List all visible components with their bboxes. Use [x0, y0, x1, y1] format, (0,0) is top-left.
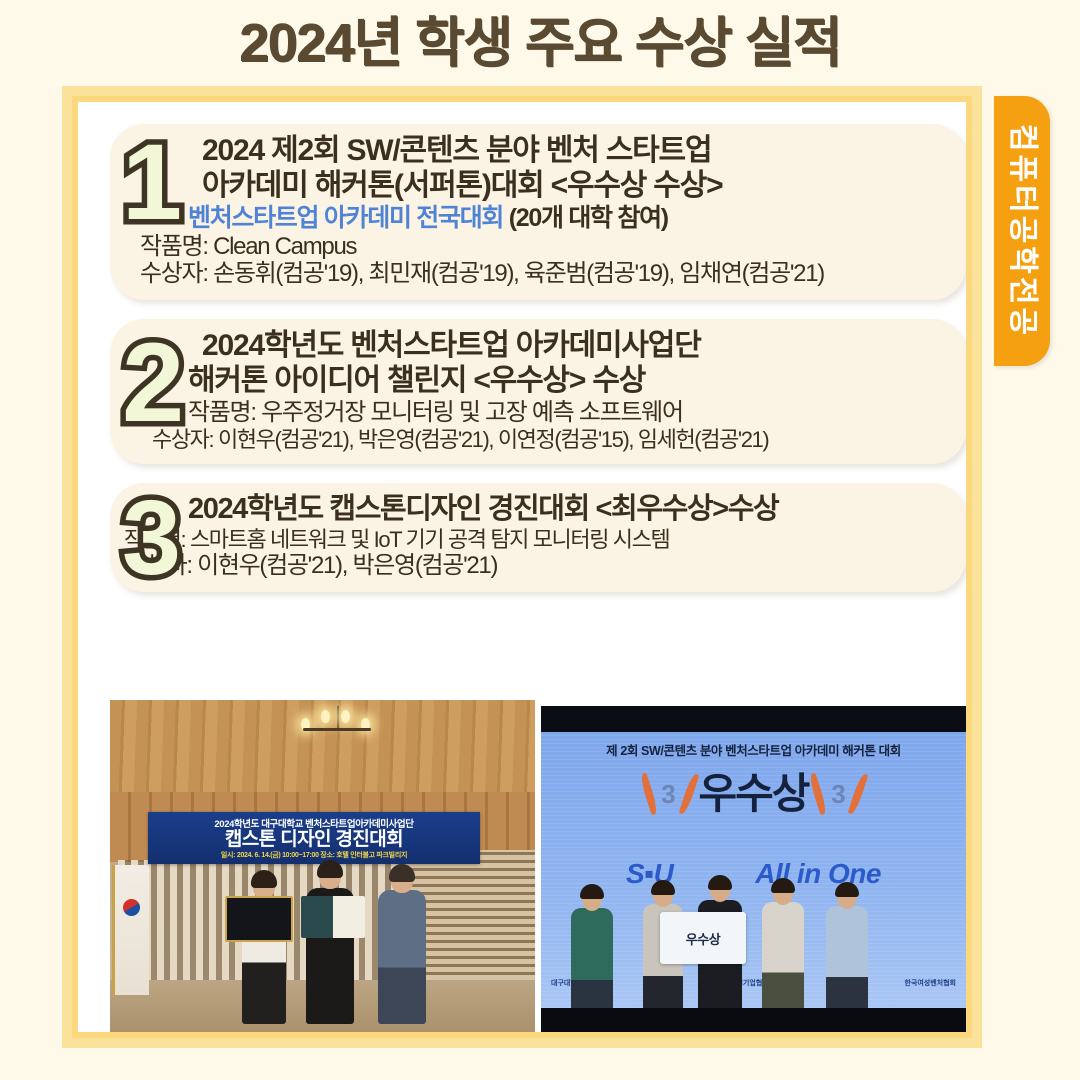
hackathon-award-stage-photo: 제 2회 SW/콘텐츠 분야 벤처스타트업 아카데미 해커톤 대회 3 우수상 …	[541, 706, 966, 1032]
sponsor-logo-right: 한국여성벤처협회	[904, 978, 956, 988]
award-2-winners: 수상자: 이현우(컴공'21), 박은영(컴공'21), 이연정(컴공'15),…	[152, 427, 950, 453]
content-panel: 1 2024 제2회 SW/콘텐츠 분야 벤처 스타트업 아카데미 해커톤(서퍼…	[78, 102, 966, 1032]
photo2-slogan: S▪U All in One	[541, 858, 966, 890]
page-title: 2024년 학생 주요 수상 실적	[239, 16, 841, 70]
photo1-banner-line3: 일시: 2024. 6. 14.(금) 10:00~17:00 장소: 호텔 인…	[221, 850, 407, 860]
award-1-winners: 수상자: 손동휘(컴공'19), 최민재(컴공'19), 육준범(컴공'19),…	[140, 260, 950, 288]
award-1-subtitle-highlight: 벤처스타트업 아카데미 전국대회	[188, 204, 503, 232]
photo2-award-text: 우수상	[699, 773, 809, 815]
photo1-banner-line1: 2024학년도 대구대학교 벤처스타트업아카데미사업단	[214, 816, 413, 830]
award-number-2: 2	[122, 327, 184, 439]
photo1-banner-line2: 캡스톤 디자인 경진대회	[225, 830, 403, 851]
award-card-2: 2 2024학년도 벤처스타트업 아카데미사업단 해커톤 아이디어 챌린지 <우…	[110, 319, 966, 464]
chandelier-icon	[297, 706, 377, 754]
photo1-certificate	[301, 896, 365, 938]
photo2-award-plaque: 우수상	[660, 912, 746, 964]
department-side-tab-label: 컴퓨터공학전공	[1007, 124, 1037, 338]
award-card-1: 1 2024 제2회 SW/콘텐츠 분야 벤처 스타트업 아카데미 해커톤(서퍼…	[110, 124, 966, 300]
award-1-heading-line2: 아카데미 해커톤(서퍼톤)대회 <우수상 수상>	[202, 169, 950, 204]
photo1-award-plaque	[225, 896, 293, 942]
award-3-heading-line1: 2024학년도 캡스톤디자인 경진대회 <최우수상>수상	[188, 493, 950, 527]
laurel-wreath-icon-right: 3	[812, 769, 864, 819]
award-1-subtitle: 벤처스타트업 아카데미 전국대회 (20개 대학 참여)	[188, 204, 950, 233]
award-2-work-title: 작품명: 우주정거장 모니터링 및 고장 예측 소프트웨어	[188, 399, 950, 427]
award-1-subtitle-rest: (20개 대학 참여)	[503, 204, 668, 232]
page-header: 2024년 학생 주요 수상 실적	[0, 0, 1080, 86]
laurel-wreath-icon-left: 3	[643, 769, 695, 819]
photo2-screen-title: 제 2회 SW/콘텐츠 분야 벤처스타트업 아카데미 해커톤 대회	[541, 740, 966, 759]
photo-gallery: 2024학년도 대구대학교 벤처스타트업아카데미사업단 캡스톤 디자인 경진대회…	[110, 700, 966, 1032]
award-card-3: 3 2024학년도 캡스톤디자인 경진대회 <최우수상>수상 작품명: 스마트홈…	[110, 483, 966, 592]
capstone-award-ceremony-photo: 2024학년도 대구대학교 벤처스타트업아카데미사업단 캡스톤 디자인 경진대회…	[110, 700, 535, 1032]
award-2-heading-line1: 2024학년도 벤처스타트업 아카데미사업단	[202, 329, 950, 364]
content-frame-inner-border: 1 2024 제2회 SW/콘텐츠 분야 벤처 스타트업 아카데미 해커톤(서퍼…	[72, 96, 972, 1038]
award-1-work-title: 작품명: Clean Campus	[140, 233, 950, 261]
award-3-work-title: 작품명: 스마트홈 네트워크 및 IoT 기기 공격 탐지 모니터링 시스템	[124, 527, 950, 553]
award-1-heading-line1: 2024 제2회 SW/콘텐츠 분야 벤처 스타트업	[202, 134, 950, 169]
department-side-tab: 컴퓨터공학전공	[994, 96, 1050, 366]
award-number-1: 1	[122, 128, 182, 236]
photo1-person-right	[378, 890, 426, 1024]
korean-flag-icon	[112, 865, 149, 995]
photo2-foreground-shadow	[541, 1008, 966, 1032]
award-card-list: 1 2024 제2회 SW/콘텐츠 분야 벤처 스타트업 아카데미 해커톤(서퍼…	[110, 124, 966, 611]
award-2-heading-line2: 해커톤 아이디어 챌린지 <우수상> 수상	[188, 364, 950, 399]
photo1-event-banner: 2024학년도 대구대학교 벤처스타트업아카데미사업단 캡스톤 디자인 경진대회…	[148, 812, 480, 864]
photo2-award-banner: 3 우수상 3	[541, 766, 966, 822]
award-number-3: 3	[122, 485, 181, 591]
award-3-winners: 수상자: 이현우(컴공'21), 박은영(컴공'21)	[124, 552, 950, 580]
content-frame-outer: 1 2024 제2회 SW/콘텐츠 분야 벤처 스타트업 아카데미 해커톤(서퍼…	[62, 86, 982, 1048]
